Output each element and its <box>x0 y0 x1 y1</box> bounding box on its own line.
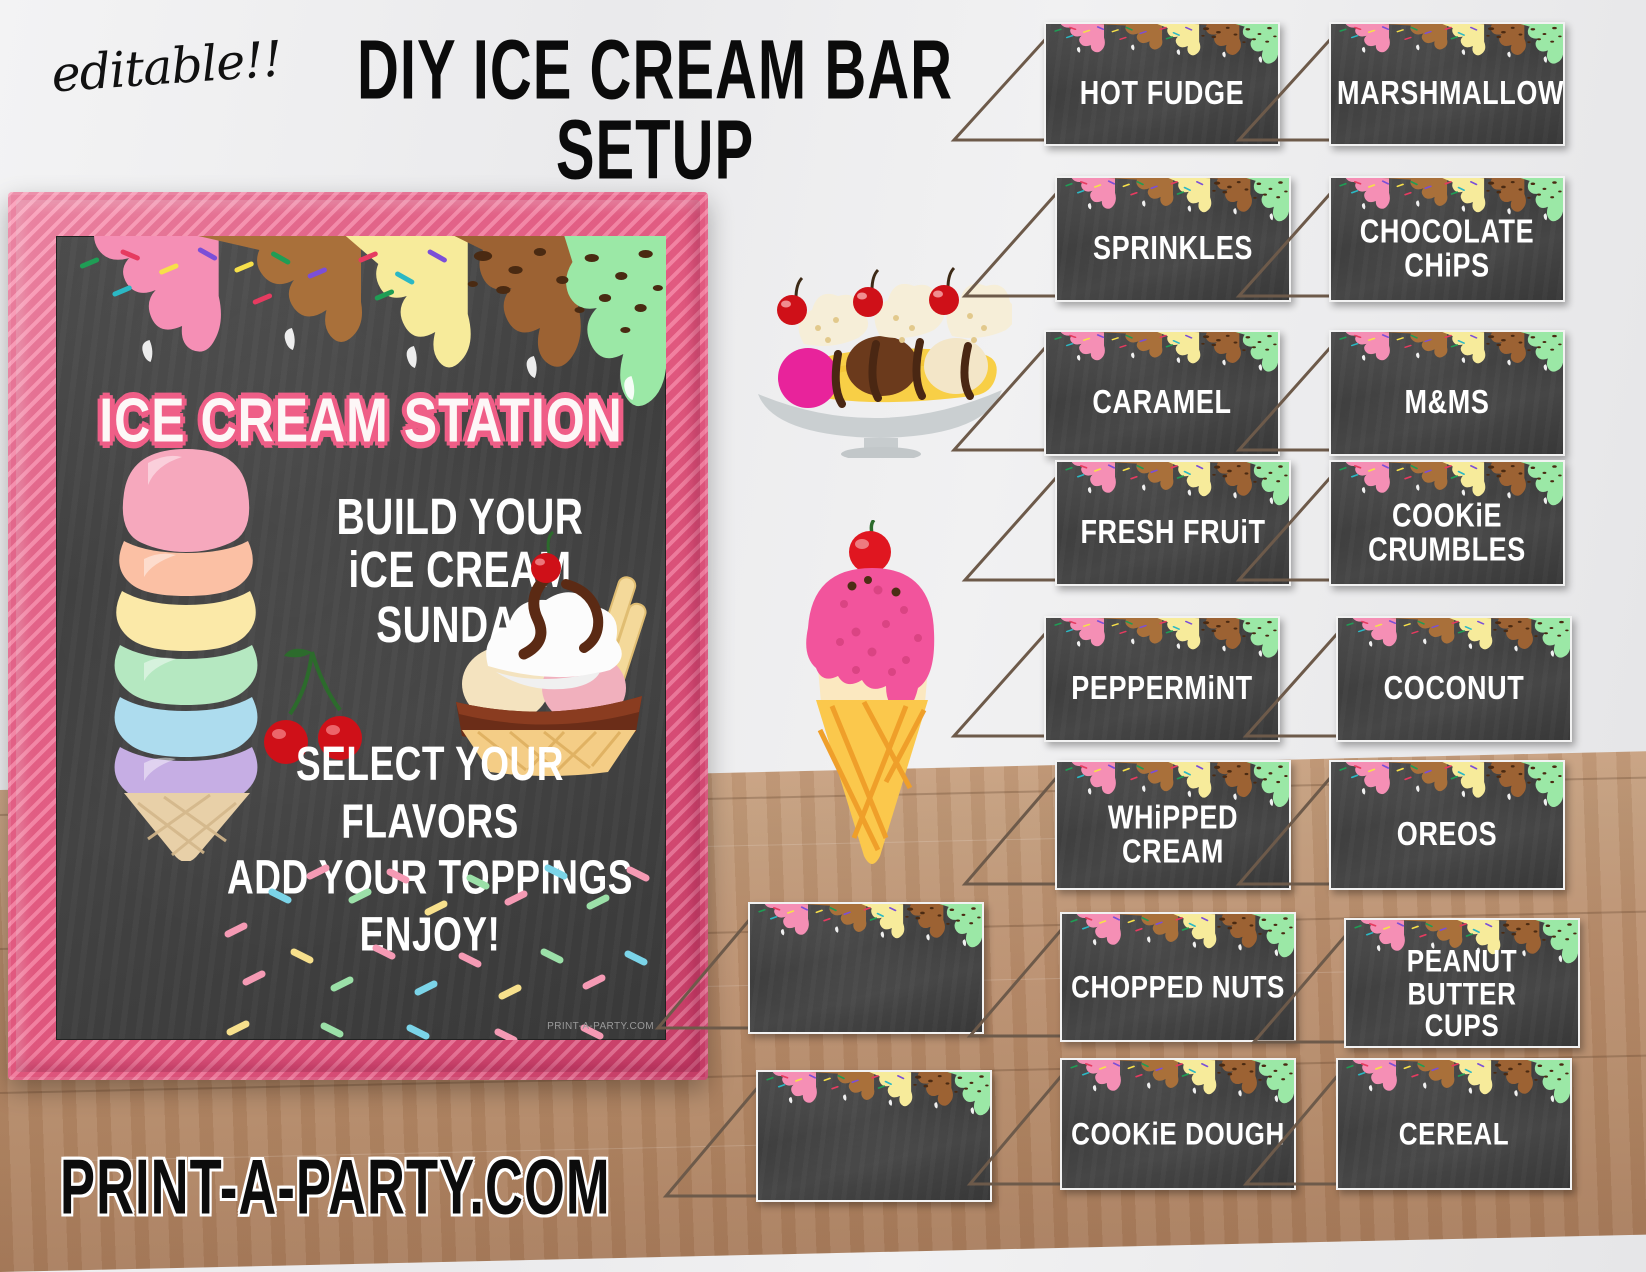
tent-card-face: MARSHMALLOWS <box>1329 22 1565 146</box>
tent-card-stand <box>1233 766 1343 892</box>
tent-card-label-line: CEREAL <box>1344 1118 1564 1150</box>
tent-card-face: COOKiECRUMBLES <box>1329 460 1565 586</box>
tent-card-label-line: M&MS <box>1337 386 1557 420</box>
tent-card-stand <box>1240 622 1350 744</box>
ice-cream-drip-band <box>750 904 982 952</box>
framed-poster: ICE CREAM STATION BUILD YOUR iCE CREAM S… <box>8 192 708 1080</box>
tent-card-stand <box>1233 28 1343 148</box>
tent-card[interactable]: MARSHMALLOWS <box>1329 22 1561 142</box>
ice-cream-drip-band <box>1331 332 1563 376</box>
tent-card[interactable]: COCONUT <box>1336 616 1568 738</box>
tent-card-stand <box>1248 924 1358 1050</box>
ice-cream-drip-band <box>1338 618 1570 662</box>
tent-card[interactable]: CHOCOLATECHiPS <box>1329 176 1561 298</box>
tent-card-stand <box>652 908 762 1036</box>
tent-card-label: PEPPERMiNT <box>1052 672 1272 706</box>
sprinkle-confetti <box>206 856 666 1040</box>
tent-card-label: CHOCOLATECHiPS <box>1337 215 1557 282</box>
tent-card-stand <box>948 28 1058 148</box>
tent-card-label: OREOS <box>1337 818 1557 852</box>
tent-card-stand <box>1240 1064 1350 1192</box>
tent-card-stand <box>660 1076 770 1204</box>
tent-card-label-line: COOKiE <box>1337 499 1557 533</box>
tent-card-stand <box>1233 336 1343 458</box>
poster-canvas: editable!! DIY ICE CREAM BAR SETUP <box>0 0 1646 1272</box>
tent-card-stand <box>964 1064 1074 1192</box>
tent-card-label: COOKiECRUMBLES <box>1337 499 1557 566</box>
tent-card-stand <box>948 622 1058 744</box>
tent-card-label-line: COCONUT <box>1344 672 1564 706</box>
tent-card[interactable] <box>756 1070 988 1198</box>
tent-card-label-line: CUPS <box>1352 1009 1572 1041</box>
tent-card-stand <box>959 182 1069 304</box>
tent-card[interactable] <box>748 902 980 1030</box>
tent-card-label: MARSHMALLOWS <box>1337 77 1557 111</box>
tent-card-label-line: MARSHMALLOWS <box>1337 77 1557 111</box>
tent-card-label-line: PEANUT BUTTER <box>1352 945 1572 1010</box>
footer-brand: PRINT-A-PARTY.COM <box>60 1142 611 1232</box>
tent-card-label-line: CHOCOLATE <box>1337 215 1557 249</box>
poster-credit: PRINT-A-PARTY.COM <box>547 1021 654 1032</box>
tent-card-stand <box>959 766 1069 892</box>
tent-card-label-line: OREOS <box>1337 818 1557 852</box>
tent-card-label: PEANUT BUTTERCUPS <box>1352 945 1572 1042</box>
ice-cream-drip-band <box>1331 762 1563 812</box>
tent-card-label: COCONUT <box>1344 672 1564 706</box>
tent-card-label-line: PEPPERMiNT <box>1052 672 1272 706</box>
tent-card[interactable]: OREOS <box>1329 760 1561 886</box>
tent-card[interactable]: CEREAL <box>1336 1058 1568 1186</box>
tent-card-face: PEANUT BUTTERCUPS <box>1344 918 1580 1048</box>
page-title-line1: DIY ICE CREAM BAR <box>340 32 970 111</box>
ice-cream-drip-band <box>758 1072 990 1120</box>
tent-card-face: COCONUT <box>1336 616 1572 742</box>
page-title: DIY ICE CREAM BAR SETUP <box>340 32 970 190</box>
tent-card-face <box>748 902 984 1034</box>
ice-cream-drip-band <box>1338 1060 1570 1108</box>
ice-cream-drip-band <box>1331 24 1563 68</box>
tent-card-label: M&MS <box>1337 386 1557 420</box>
tent-card-stand <box>948 336 1058 458</box>
tent-card-face <box>756 1070 992 1202</box>
tent-card-label-line: CHiPS <box>1337 249 1557 283</box>
tent-card[interactable]: M&MS <box>1329 330 1561 452</box>
tent-card-face: CEREAL <box>1336 1058 1572 1190</box>
tent-card-label-line: CRUMBLES <box>1337 533 1557 567</box>
tent-card-face: M&MS <box>1329 330 1565 456</box>
tent-card-face: OREOS <box>1329 760 1565 890</box>
tent-card-stand <box>1233 182 1343 304</box>
tent-card[interactable]: COOKiECRUMBLES <box>1329 460 1561 582</box>
tent-card-label: CEREAL <box>1344 1118 1564 1150</box>
chalkboard-poster: ICE CREAM STATION BUILD YOUR iCE CREAM S… <box>56 236 666 1040</box>
tent-card-stand <box>1233 466 1343 588</box>
tent-card-stand <box>964 918 1074 1044</box>
pink-ice-cream-cone-icon <box>782 520 962 870</box>
page-title-line2: SETUP <box>340 111 970 190</box>
tent-card[interactable]: PEANUT BUTTERCUPS <box>1344 918 1576 1044</box>
tent-card-face: CHOCOLATECHiPS <box>1329 176 1565 302</box>
poster-steps-line1: SELECT YOUR FLAVORS <box>206 736 654 850</box>
tent-card-stand <box>959 466 1069 588</box>
